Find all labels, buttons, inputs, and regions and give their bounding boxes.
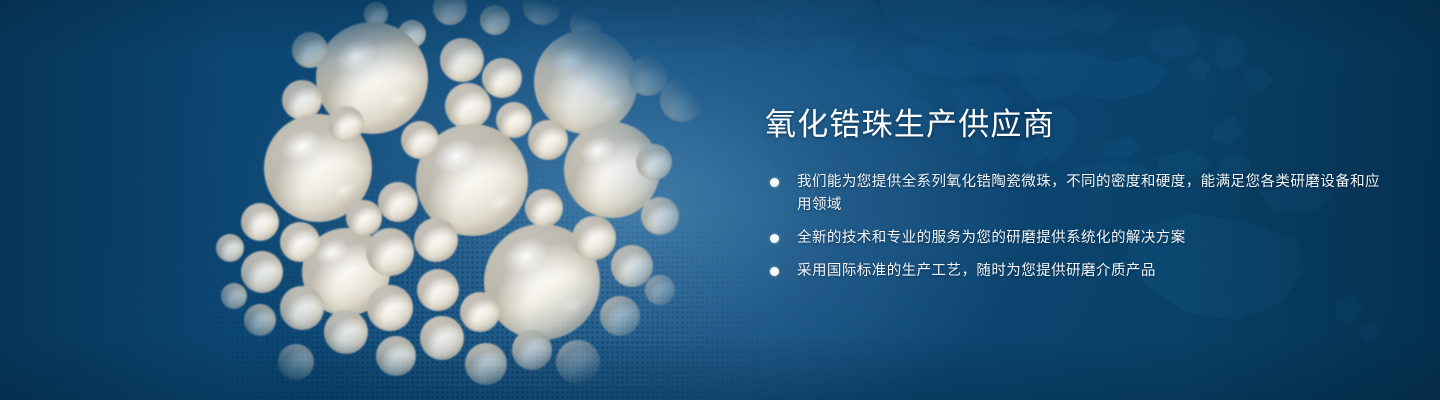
zirconia-beads-photo — [150, 0, 740, 400]
list-item-text: 我们能为您提供全系列氧化锆陶瓷微珠，不同的密度和硬度，能满足您各类研磨设备和应用… — [797, 171, 1385, 217]
list-item-text: 全新的技术和专业的服务为您的研磨提供系统化的解决方案 — [797, 227, 1385, 250]
list-item: 我们能为您提供全系列氧化锆陶瓷微珠，不同的密度和硬度，能满足您各类研磨设备和应用… — [765, 171, 1385, 217]
bullet-dot-icon — [770, 267, 779, 276]
hero-banner: 氧化锆珠生产供应商 我们能为您提供全系列氧化锆陶瓷微珠，不同的密度和硬度，能满足… — [0, 0, 1440, 400]
page-title: 氧化锆珠生产供应商 — [765, 108, 1385, 141]
list-item: 全新的技术和专业的服务为您的研磨提供系统化的解决方案 — [765, 227, 1385, 250]
list-item: 采用国际标准的生产工艺，随时为您提供研磨介质产品 — [765, 260, 1385, 283]
bullet-dot-icon — [770, 234, 779, 243]
banner-copy: 氧化锆珠生产供应商 我们能为您提供全系列氧化锆陶瓷微珠，不同的密度和硬度，能满足… — [765, 108, 1385, 283]
bullet-dot-icon — [770, 178, 779, 187]
list-item-text: 采用国际标准的生产工艺，随时为您提供研磨介质产品 — [797, 260, 1385, 283]
feature-list: 我们能为您提供全系列氧化锆陶瓷微珠，不同的密度和硬度，能满足您各类研磨设备和应用… — [765, 171, 1385, 283]
